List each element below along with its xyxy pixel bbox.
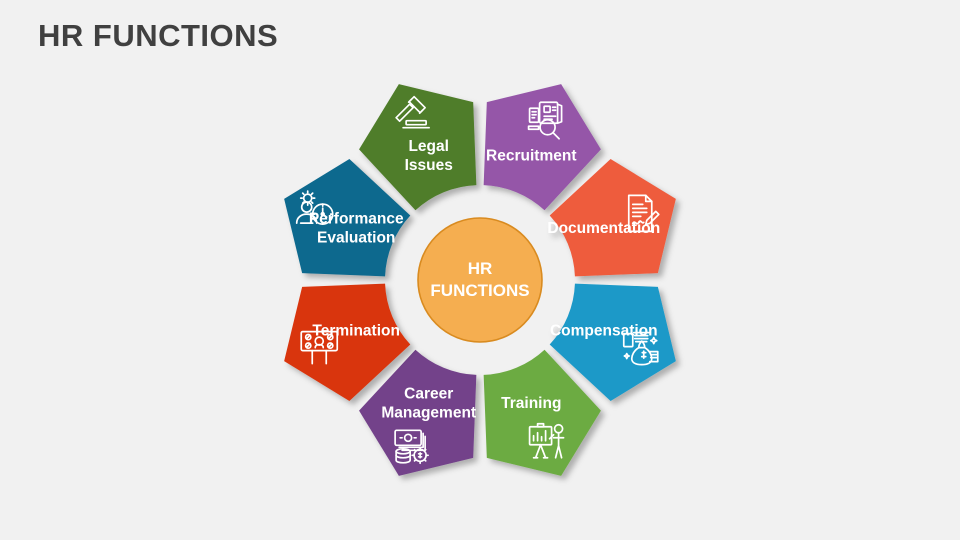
- segment-label-training: Training: [501, 395, 561, 412]
- center-circle: [418, 218, 542, 342]
- segment-label-compensation: Compensation: [550, 322, 658, 339]
- segment-label-recruitment: Recruitment: [486, 147, 576, 164]
- segment-label-performance-evaluation: Evaluation: [317, 229, 395, 246]
- center-title-line1: HR: [468, 259, 493, 278]
- segment-label-career-management: Career: [404, 385, 453, 402]
- center-hub[interactable]: HR FUNCTIONS: [418, 218, 542, 342]
- wheel-svg: RecruitmentDocumentationCompensationTrai…: [230, 30, 730, 530]
- segment-label-legal-issues: Legal: [408, 138, 448, 155]
- hr-functions-wheel-diagram: RecruitmentDocumentationCompensationTrai…: [230, 30, 730, 530]
- segment-label-career-management: Management: [381, 404, 476, 421]
- center-title-line2: FUNCTIONS: [430, 281, 529, 300]
- slide-canvas: HR FUNCTIONS RecruitmentDocumentationCom…: [0, 0, 960, 540]
- segment-label-legal-issues: Issues: [405, 157, 453, 174]
